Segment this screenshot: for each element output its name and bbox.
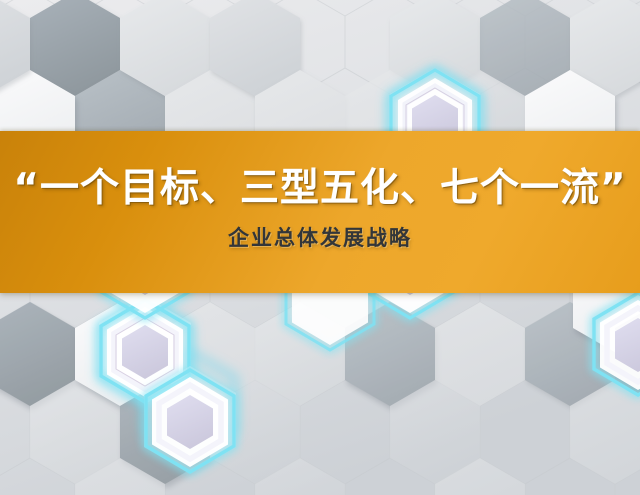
presentation-slide: “一个目标、三型五化、七个一流” 企业总体发展战略 <box>0 0 640 495</box>
title-band: “一个目标、三型五化、七个一流” 企业总体发展战略 <box>0 131 640 293</box>
page-subtitle: 企业总体发展战略 <box>228 228 412 249</box>
page-title: “一个目标、三型五化、七个一流” <box>13 169 626 208</box>
